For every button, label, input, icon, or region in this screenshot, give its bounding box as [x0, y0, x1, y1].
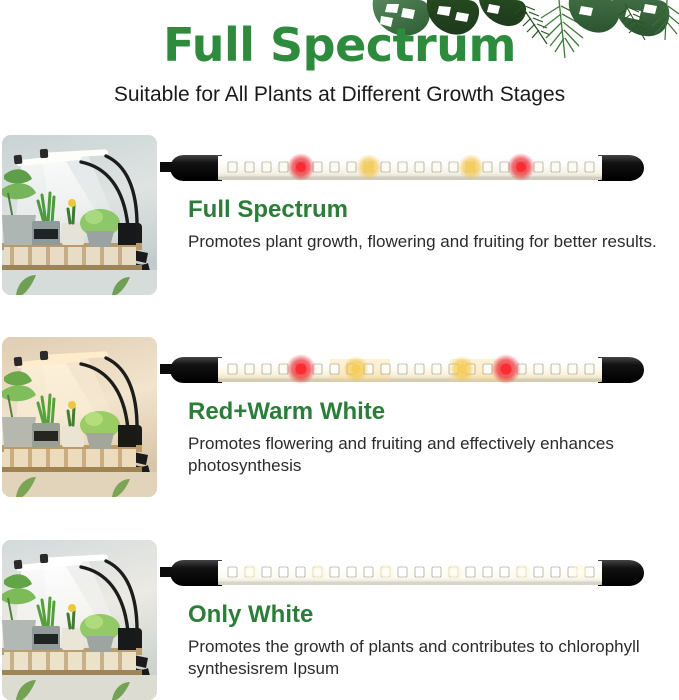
feature-description: Promotes flowering and fruiting and effe… — [188, 433, 658, 478]
grow-light-over-plants-cool-white — [2, 135, 157, 295]
led-bar-full-spectrum — [160, 139, 660, 193]
page-title: Full Spectrum — [0, 22, 679, 68]
feature-title: Red+Warm White — [188, 399, 658, 426]
page-header: Full Spectrum Suitable for All Plants at… — [0, 0, 679, 120]
led-bar-only-white — [160, 544, 660, 598]
grow-light-over-plants-warm-white — [2, 337, 157, 497]
led-bar-red-warm-white — [160, 341, 660, 395]
page-subtitle: Suitable for All Plants at Different Gro… — [0, 84, 679, 105]
feature-title: Full Spectrum — [188, 197, 658, 224]
feature-description: Promotes the growth of plants and contri… — [188, 636, 658, 681]
grow-light-over-plants-only-white — [2, 540, 157, 700]
feature-text-block: Only White Promotes the growth of plants… — [188, 602, 658, 681]
feature-description: Promotes plant growth, flowering and fru… — [188, 231, 658, 253]
feature-text-block: Full Spectrum Promotes plant growth, flo… — [188, 197, 658, 253]
feature-text-block: Red+Warm White Promotes flowering and fr… — [188, 399, 658, 478]
feature-title: Only White — [188, 602, 658, 629]
